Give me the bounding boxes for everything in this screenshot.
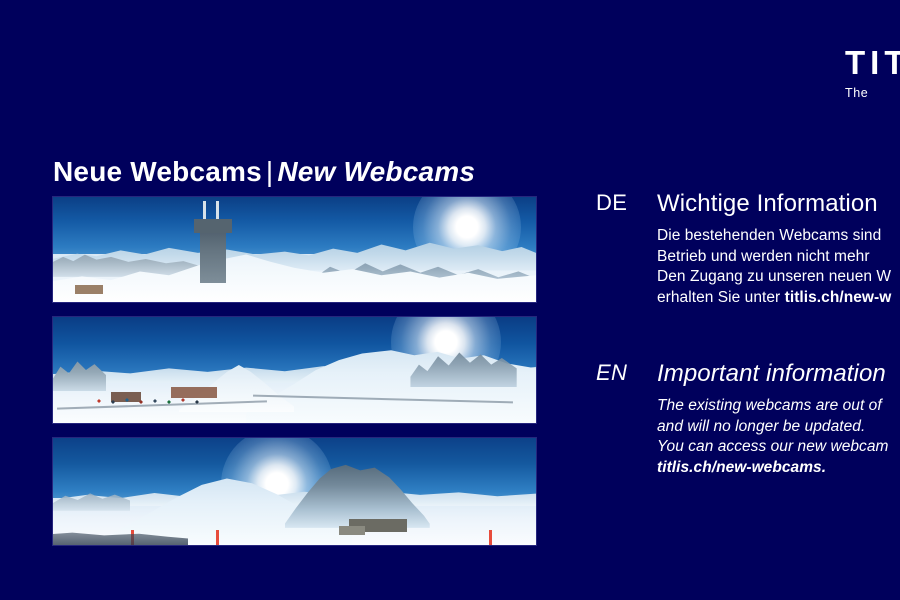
info-line-text: and will no longer be updated. bbox=[657, 418, 865, 435]
panorama-image-content bbox=[53, 197, 536, 302]
info-url-de[interactable]: titlis.ch/new-w bbox=[785, 289, 892, 306]
info-block-en: EN Important information The existing we… bbox=[596, 360, 900, 478]
panorama-image-content bbox=[53, 438, 536, 545]
logo-tagline: The bbox=[845, 86, 900, 100]
logo-wordmark: TIT bbox=[845, 46, 900, 79]
piste-building-annex bbox=[339, 526, 365, 535]
info-line: and will no longer be updated. bbox=[657, 417, 900, 438]
info-heading-en: Important information bbox=[657, 360, 900, 388]
antenna-mast-right-icon bbox=[216, 201, 219, 219]
mountain-hut bbox=[75, 285, 103, 294]
info-lines-en: The existing webcams are out of and will… bbox=[657, 396, 900, 478]
piste-marker-pole bbox=[489, 530, 492, 545]
info-line: Den Zugang zu unseren neuen W bbox=[657, 267, 900, 288]
info-line: Betrieb und werden nicht mehr bbox=[657, 247, 900, 268]
info-line-text: The existing webcams are out of bbox=[657, 397, 882, 414]
language-tag-de: DE bbox=[596, 190, 627, 216]
info-body-de: Wichtige Information Die bestehenden Web… bbox=[657, 190, 900, 308]
antenna-mast-left-icon bbox=[203, 201, 206, 219]
webcam-notice-page: TIT The Neue Webcams|New Webcams bbox=[0, 0, 900, 600]
info-line-text: Betrieb und werden nicht mehr bbox=[657, 248, 870, 265]
page-title-separator: | bbox=[262, 156, 277, 187]
page-title-de: Neue Webcams bbox=[53, 156, 262, 187]
panorama-summit-station bbox=[52, 196, 537, 303]
piste-marker-pole bbox=[216, 530, 219, 545]
info-line: The existing webcams are out of bbox=[657, 396, 900, 417]
info-line-text: Den Zugang zu unseren neuen W bbox=[657, 268, 891, 285]
info-block-de: DE Wichtige Information Die bestehenden … bbox=[596, 190, 900, 308]
panorama-valley-run bbox=[52, 437, 537, 546]
info-line-text: Die bestehenden Webcams sind bbox=[657, 227, 881, 244]
info-body-en: Important information The existing webca… bbox=[657, 360, 900, 478]
info-line-text: You can access our new webcam bbox=[657, 438, 889, 455]
titlis-logo: TIT The bbox=[845, 46, 900, 100]
info-lines-de: Die bestehenden Webcams sind Betrieb und… bbox=[657, 226, 900, 308]
info-line: erhalten Sie unter titlis.ch/new-w bbox=[657, 288, 900, 309]
info-line: titlis.ch/new-webcams. bbox=[657, 458, 900, 479]
panorama-ski-slope bbox=[52, 316, 537, 424]
panorama-image-content bbox=[53, 317, 536, 423]
info-line-text: erhalten Sie unter bbox=[657, 289, 785, 306]
summit-station-tower bbox=[200, 225, 226, 283]
page-title: Neue Webcams|New Webcams bbox=[53, 155, 475, 189]
skier-group bbox=[93, 397, 213, 405]
info-url-en[interactable]: titlis.ch/new-webcams. bbox=[657, 459, 826, 476]
info-heading-de: Wichtige Information bbox=[657, 190, 900, 218]
info-line: Die bestehenden Webcams sind bbox=[657, 226, 900, 247]
language-tag-en: EN bbox=[596, 360, 627, 386]
mountain-lodge-main bbox=[171, 387, 217, 398]
summit-station-platform bbox=[194, 219, 232, 233]
page-title-en: New Webcams bbox=[277, 156, 475, 187]
info-line: You can access our new webcam bbox=[657, 437, 900, 458]
information-column: DE Wichtige Information Die bestehenden … bbox=[596, 190, 900, 478]
